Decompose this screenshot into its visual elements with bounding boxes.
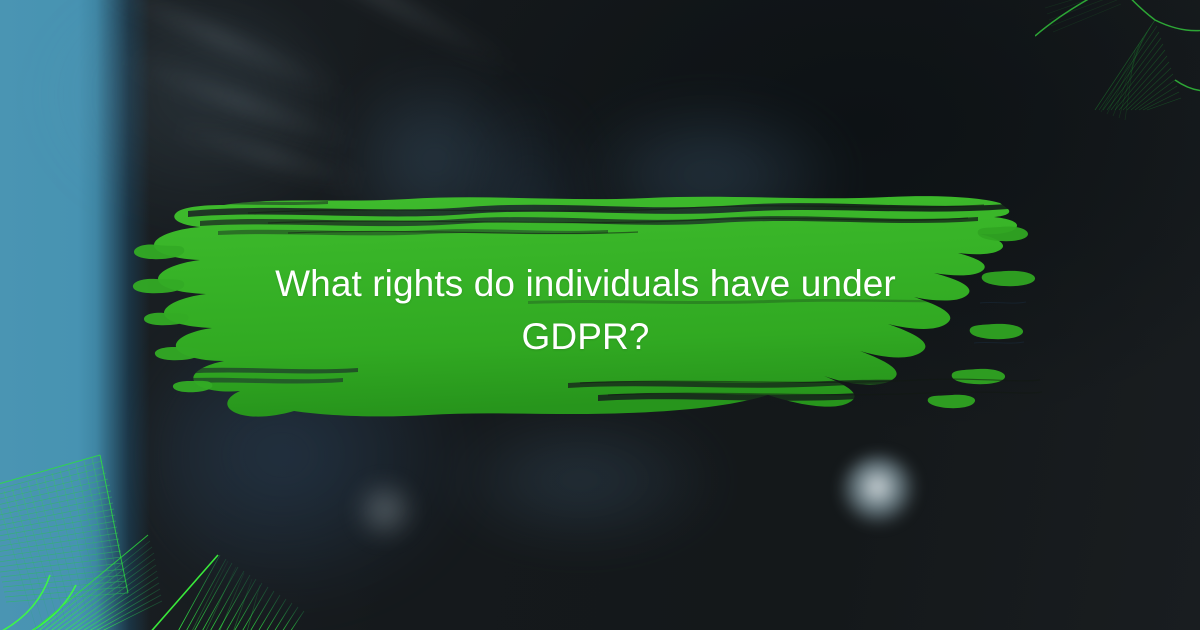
page-title: What rights do individuals have under GD… — [128, 183, 1043, 438]
social-card: What rights do individuals have under GD… — [0, 0, 1200, 630]
headline-banner: What rights do individuals have under GD… — [128, 183, 1043, 438]
light-glow-spot — [840, 455, 918, 525]
light-glow-spot — [350, 480, 420, 540]
